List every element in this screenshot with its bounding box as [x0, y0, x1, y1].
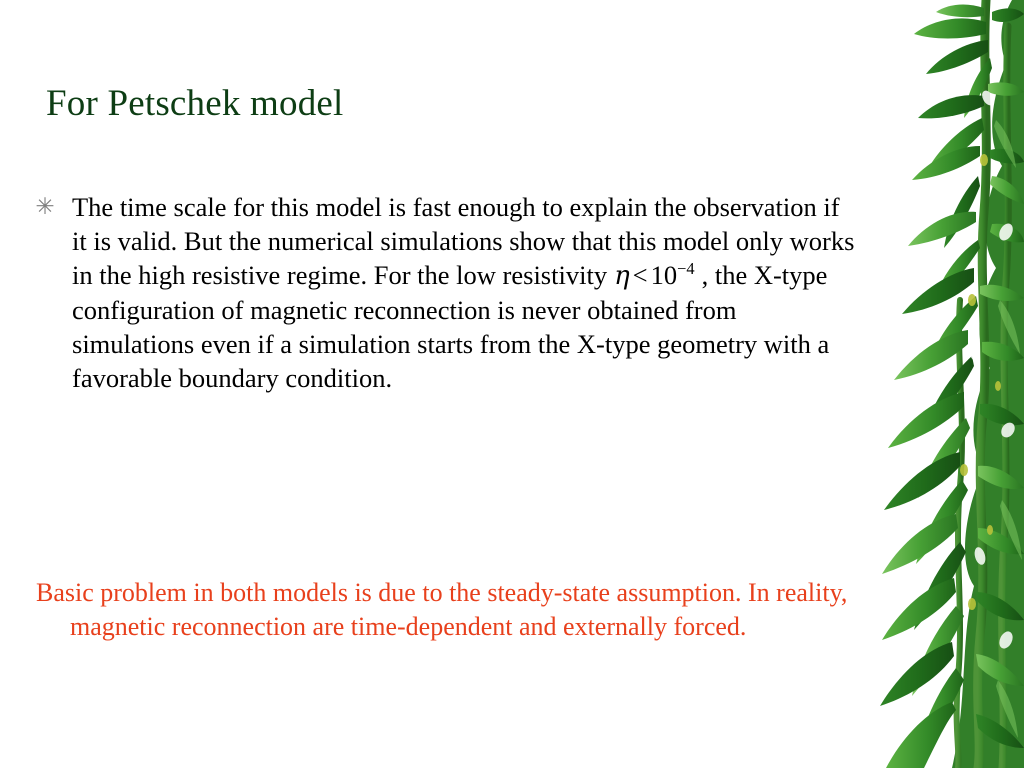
formula-exponent-minus-four: −4 — [677, 259, 694, 278]
formula-variable-eta: η — [614, 261, 630, 291]
asterisk-bullet-icon: ✳ — [34, 196, 56, 218]
slide-canvas: For Petschek model ✳ The time scale for … — [0, 0, 1024, 768]
formula-base-ten: 10 — [651, 260, 678, 290]
body-content-block: ✳ The time scale for this model is fast … — [30, 190, 860, 395]
emphasis-paragraph: Basic problem in both models is due to t… — [36, 576, 870, 644]
page-title: For Petschek model — [46, 82, 344, 126]
bamboo-foliage-image — [856, 0, 1024, 768]
inline-formula-eta-less-than-ten-to-minus-four: η<10−4 — [607, 260, 702, 290]
emphasis-paragraph-text: Basic problem in both models is due to t… — [36, 578, 847, 641]
bullet-list-item: ✳ The time scale for this model is fast … — [30, 190, 860, 395]
bullet-item-text: The time scale for this model is fast en… — [72, 190, 860, 395]
formula-relation-less-than: < — [630, 260, 651, 290]
